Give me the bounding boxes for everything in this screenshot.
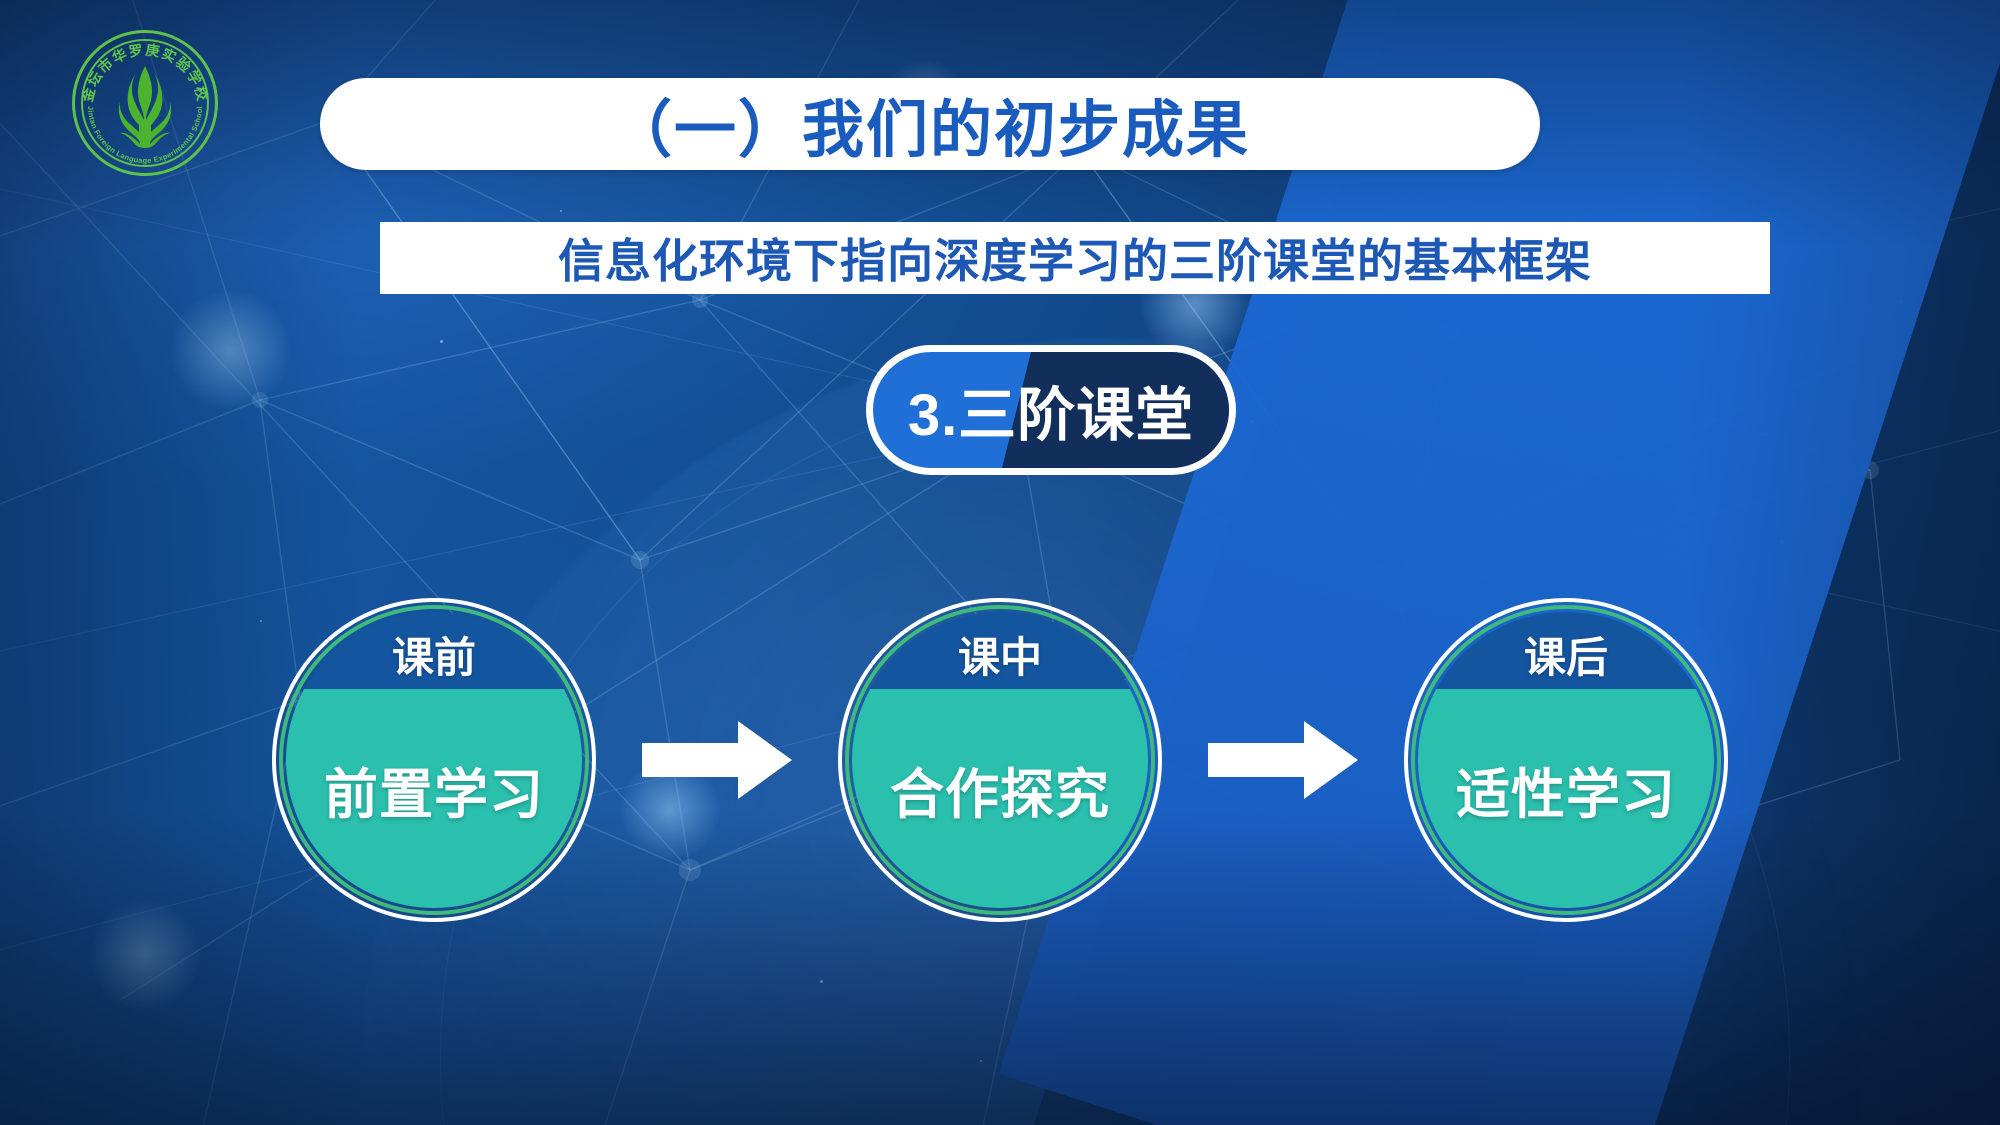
star-speck	[560, 210, 562, 212]
star-speck	[1250, 420, 1253, 423]
page-subtitle: 信息化环境下指向深度学习的三阶课堂的基本框架	[380, 222, 1770, 294]
right-arrow-icon	[642, 715, 792, 805]
stage-name-label: 合作探究	[838, 750, 1162, 829]
presentation-slide: 金坛市华罗庚实验学校 Jintan Foreign Language Exper…	[0, 0, 2000, 1125]
three-stage-flow-diagram: 课前 前置学习 课中 合作探究 课后 适性学习	[0, 560, 2000, 960]
glow-node	[170, 290, 290, 410]
stage-circle-after-class[interactable]: 课后 适性学习	[1404, 598, 1728, 922]
star-speck	[1900, 300, 1903, 303]
stage-phase-label: 课前	[272, 624, 596, 685]
school-logo: 金坛市华罗庚实验学校 Jintan Foreign Language Exper…	[72, 30, 218, 176]
glow-node	[1330, 960, 1440, 1070]
stage-name-label: 前置学习	[272, 750, 596, 829]
right-arrow-icon	[1208, 715, 1358, 805]
logo-flame-leaf-icon	[108, 62, 182, 150]
page-title: （一）我们的初步成果	[320, 78, 1540, 170]
stage-name-label: 适性学习	[1404, 750, 1728, 829]
arrow-shaft	[1208, 743, 1312, 777]
stage-phase-label: 课后	[1404, 624, 1728, 685]
star-speck	[820, 980, 823, 983]
star-speck	[440, 340, 443, 343]
star-speck	[980, 1060, 982, 1062]
stage-phase-label: 课中	[838, 624, 1162, 685]
star-speck	[1780, 540, 1783, 543]
arrow-head	[738, 721, 792, 799]
arrow-head	[1304, 721, 1358, 799]
stage-circle-in-class[interactable]: 课中 合作探究	[838, 598, 1162, 922]
stage-circle-pre-class[interactable]: 课前 前置学习	[272, 598, 596, 922]
section-badge-label: 3.三阶课堂	[866, 345, 1236, 475]
arrow-shaft	[642, 743, 746, 777]
